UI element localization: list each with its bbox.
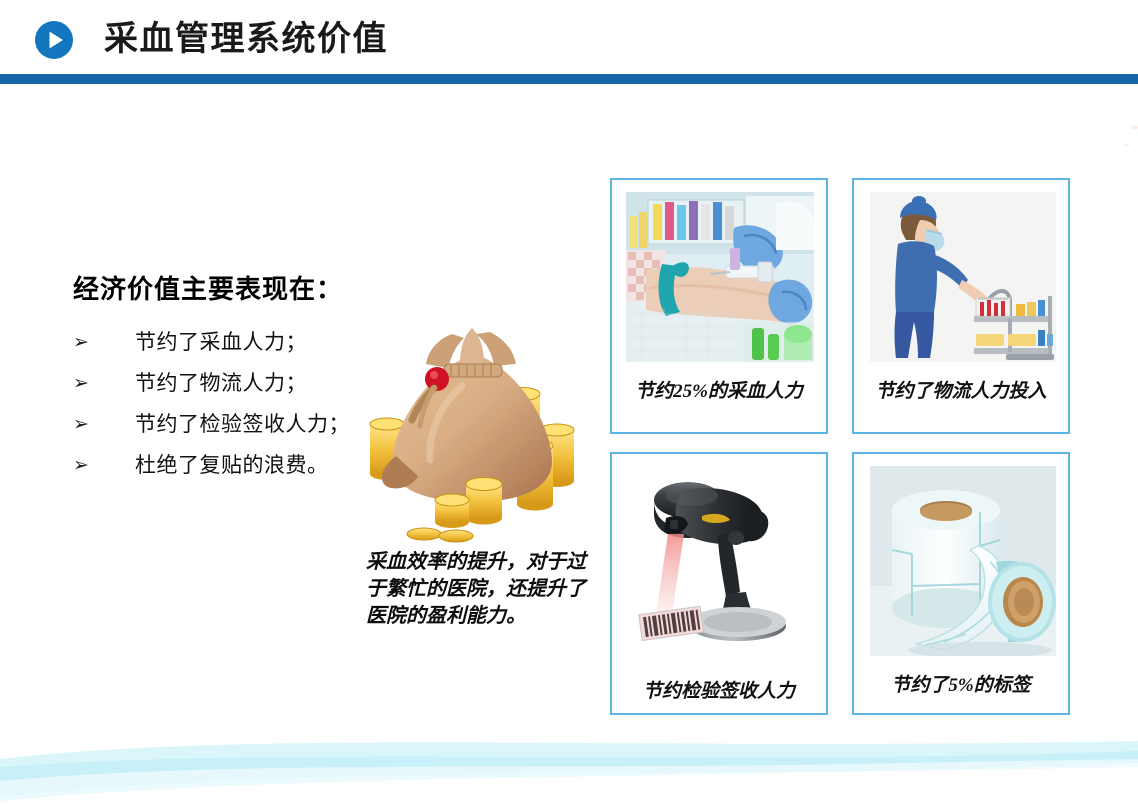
list-item-label: 节约了检验签收人力； [135,409,350,439]
blood-draw-photo [626,192,814,362]
arrow-bullet-icon: ➢ [73,368,135,398]
arrow-bullet-icon: ➢ [73,450,135,480]
list-item-label: 节约了采血人力； [135,327,307,357]
slide-header: 采血管理系统价值 [0,0,1138,80]
header-divider [0,74,1138,84]
left-content-column: 经济价值主要表现在： ➢ 节约了采血人力； ➢ 节约了物流人力； ➢ 节约了检验… [0,84,600,724]
page-title: 采血管理系统价值 [104,13,388,65]
edge-artifact [1124,144,1130,146]
value-card-blood-draw[interactable]: 节约25%的采血人力 [610,178,828,434]
value-card-caption: 节约了物流人力投入 [854,376,1068,403]
illustration-caption: 采血效率的提升，对于过于繁忙的医院，还提升了医院的盈利能力。 [366,549,596,630]
value-card-caption: 节约25%的采血人力 [612,376,826,403]
play-triangle-icon [35,21,73,59]
value-card-labels[interactable]: 节约了5%的标签 [852,452,1070,715]
bottom-wave-decoration [0,711,1138,801]
label-rolls-photo [870,466,1056,656]
value-card-logistics[interactable]: 节约了物流人力投入 [852,178,1070,434]
value-card-caption: 节约了5%的标签 [854,670,1068,697]
nurse-with-specimen-cart-illustration [870,192,1056,362]
barcode-scanner-photo [626,466,814,662]
list-item-label: 杜绝了复贴的浪费。 [135,450,329,480]
arrow-bullet-icon: ➢ [73,409,135,439]
money-bag-with-coins-icon [352,306,594,546]
edge-artifact [1131,126,1138,129]
value-card-caption: 节约检验签收人力 [612,676,826,703]
value-card-lab-receiving[interactable]: 节约检验签收人力 [610,452,828,715]
arrow-bullet-icon: ➢ [73,327,135,357]
list-item-label: 节约了物流人力； [135,368,307,398]
value-card-grid: 节约25%的采血人力 [610,178,1082,715]
section-heading: 经济价值主要表现在： [73,269,343,306]
